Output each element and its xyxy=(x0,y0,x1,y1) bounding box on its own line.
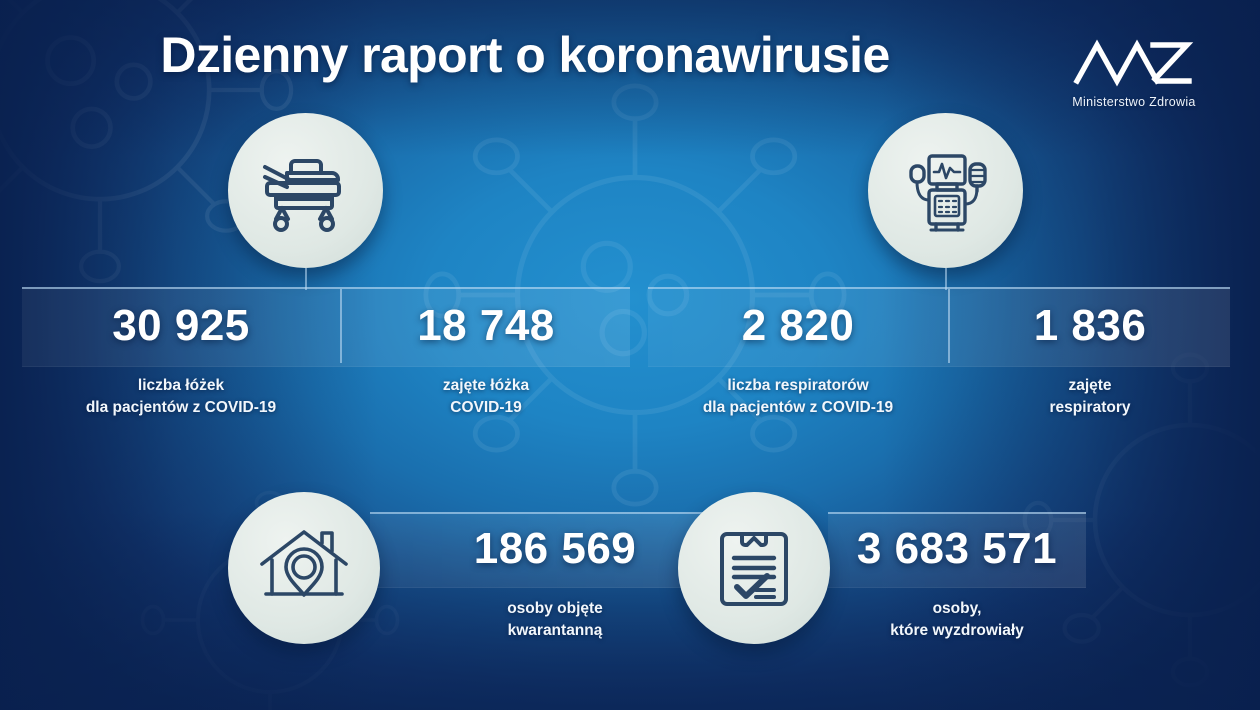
stat-ventilators-occupied-value: 1 836 xyxy=(950,287,1230,365)
infographic-canvas: Dzienny raport o koronawirusie Ministers… xyxy=(0,0,1260,710)
ventilator-icon xyxy=(893,138,999,244)
ministry-logo: Ministerstwo Zdrowia xyxy=(1034,34,1234,109)
stat-recovered-label: osoby, które wyzdrowiały xyxy=(828,598,1086,643)
stat-quarantined: 186 569 osoby objęte kwarantanną xyxy=(395,512,715,643)
stat-ventilators-total-value: 2 820 xyxy=(648,287,948,365)
stat-recovered-value: 3 683 571 xyxy=(828,512,1086,586)
stat-beds-occupied-label: zajęte łóżka COVID-19 xyxy=(342,375,630,419)
stat-ventilators-occupied: 1 836 zajęte respiratory xyxy=(950,287,1230,419)
stat-beds-total-value: 30 925 xyxy=(22,287,340,365)
stat-beds-occupied-value: 18 748 xyxy=(342,287,630,365)
ventilator-icon-circle xyxy=(868,113,1023,268)
mz-zigzag-logo-icon xyxy=(1073,34,1195,88)
stat-quarantined-label: osoby objęte kwarantanną xyxy=(395,598,715,643)
stat-recovered: 3 683 571 osoby, które wyzdrowiały xyxy=(828,512,1086,643)
stat-beds-total-label: liczba łóżek dla pacjentów z COVID-19 xyxy=(22,375,340,419)
stat-quarantined-value: 186 569 xyxy=(395,512,715,586)
hospital-bed-icon-circle xyxy=(228,113,383,268)
stat-ventilators-total-label: liczba respiratorów dla pacjentów z COVI… xyxy=(648,375,948,419)
quarantine-icon-circle xyxy=(228,492,380,644)
page-title: Dzienny raport o koronawirusie xyxy=(0,26,1050,84)
clipboard-check-icon xyxy=(704,518,804,618)
stat-beds-total: 30 925 liczba łóżek dla pacjentów z COVI… xyxy=(22,287,340,419)
stat-ventilators-total: 2 820 liczba respiratorów dla pacjentów … xyxy=(648,287,948,419)
house-location-pin-icon xyxy=(252,516,356,620)
stat-beds-occupied: 18 748 zajęte łóżka COVID-19 xyxy=(342,287,630,419)
stat-ventilators-occupied-label: zajęte respiratory xyxy=(950,375,1230,419)
ministry-logo-caption: Ministerstwo Zdrowia xyxy=(1034,95,1234,109)
hospital-bed-icon xyxy=(254,139,358,243)
